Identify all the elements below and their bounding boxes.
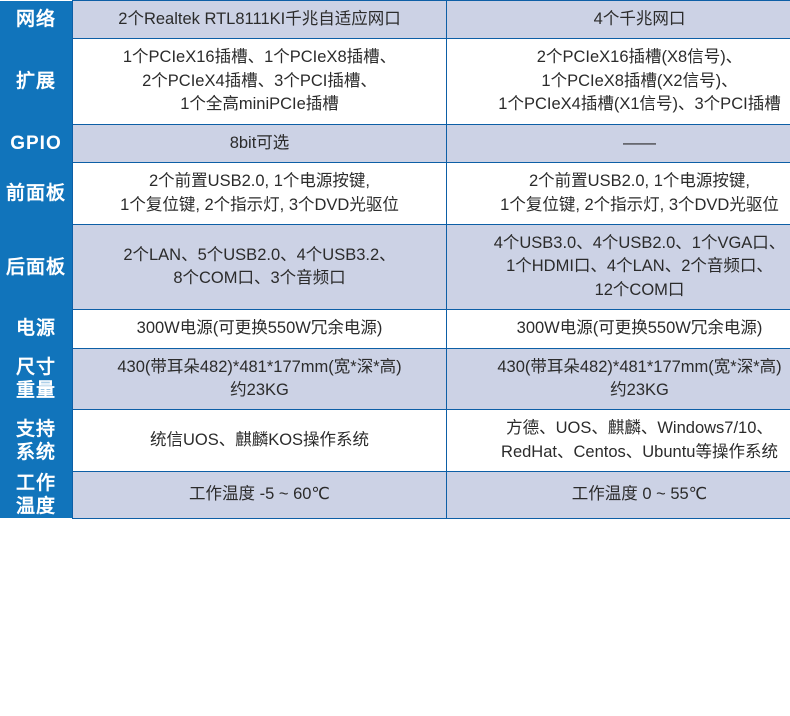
row-label-expansion: 扩展 [0,39,73,124]
row-value-network-col-a: 2个Realtek RTL8111KI千兆自适应网口 [73,1,447,39]
row-label-text: 尺寸 重量 [0,356,72,402]
row-value-operating-temperature-col-b: 工作温度 0 ~ 55℃ [447,472,790,518]
row-label-text: 支持 系统 [0,418,72,464]
row-value-expansion-col-a: 1个PCIeX16插槽、1个PCIeX8插槽、 2个PCIeX4插槽、3个PCI… [73,39,447,124]
table-row: GPIO 8bit可选 —— [0,124,790,162]
row-label-rear-panel: 后面板 [0,224,73,309]
row-value-supported-os-col-a: 统信UOS、麒麟KOS操作系统 [73,410,447,472]
row-label-text: 网络 [0,8,72,31]
row-label-network: 网络 [0,1,73,39]
row-value-network-col-b: 4个千兆网口 [447,1,790,39]
spec-comparison-table: 网络 2个Realtek RTL8111KI千兆自适应网口 4个千兆网口 扩展 … [0,0,790,519]
row-value-gpio-col-b: —— [447,124,790,162]
row-value-front-panel-col-b: 2个前置USB2.0, 1个电源按键, 1个复位键, 2个指示灯, 3个DVD光… [447,163,790,225]
row-label-text: 工作 温度 [0,472,72,518]
row-label-supported-os: 支持 系统 [0,410,73,472]
row-label-gpio: GPIO [0,124,73,162]
spec-table-body: 网络 2个Realtek RTL8111KI千兆自适应网口 4个千兆网口 扩展 … [0,1,790,519]
row-label-front-panel: 前面板 [0,163,73,225]
row-value-operating-temperature-col-a: 工作温度 -5 ~ 60℃ [73,472,447,518]
row-value-power-col-b: 300W电源(可更换550W冗余电源) [447,310,790,348]
row-value-power-col-a: 300W电源(可更换550W冗余电源) [73,310,447,348]
table-row: 电源 300W电源(可更换550W冗余电源) 300W电源(可更换550W冗余电… [0,310,790,348]
row-value-rear-panel-col-b: 4个USB3.0、4个USB2.0、1个VGA口、 1个HDMI口、4个LAN、… [447,224,790,309]
row-value-expansion-col-b: 2个PCIeX16插槽(X8信号)、 1个PCIeX8插槽(X2信号)、 1个P… [447,39,790,124]
row-label-text: 电源 [0,317,72,340]
table-row: 支持 系统 统信UOS、麒麟KOS操作系统 方德、UOS、麒麟、Windows7… [0,410,790,472]
row-label-text: 前面板 [0,182,72,205]
row-label-text: 扩展 [0,70,72,93]
row-label-operating-temperature: 工作 温度 [0,472,73,518]
row-value-dimension-weight-col-b: 430(带耳朵482)*481*177mm(宽*深*高) 约23KG [447,348,790,410]
row-label-text: 后面板 [0,256,72,279]
row-value-front-panel-col-a: 2个前置USB2.0, 1个电源按键, 1个复位键, 2个指示灯, 3个DVD光… [73,163,447,225]
table-row: 工作 温度 工作温度 -5 ~ 60℃ 工作温度 0 ~ 55℃ [0,472,790,518]
table-row: 后面板 2个LAN、5个USB2.0、4个USB3.2、 8个COM口、3个音频… [0,224,790,309]
row-value-rear-panel-col-a: 2个LAN、5个USB2.0、4个USB3.2、 8个COM口、3个音频口 [73,224,447,309]
row-value-dimension-weight-col-a: 430(带耳朵482)*481*177mm(宽*深*高) 约23KG [73,348,447,410]
row-value-supported-os-col-b: 方德、UOS、麒麟、Windows7/10、 RedHat、Centos、Ubu… [447,410,790,472]
row-value-gpio-col-a: 8bit可选 [73,124,447,162]
table-row: 前面板 2个前置USB2.0, 1个电源按键, 1个复位键, 2个指示灯, 3个… [0,163,790,225]
table-row: 网络 2个Realtek RTL8111KI千兆自适应网口 4个千兆网口 [0,1,790,39]
table-row: 扩展 1个PCIeX16插槽、1个PCIeX8插槽、 2个PCIeX4插槽、3个… [0,39,790,124]
row-label-text: GPIO [0,132,72,155]
table-row: 尺寸 重量 430(带耳朵482)*481*177mm(宽*深*高) 约23KG… [0,348,790,410]
row-label-power: 电源 [0,310,73,348]
row-label-dimension-weight: 尺寸 重量 [0,348,73,410]
